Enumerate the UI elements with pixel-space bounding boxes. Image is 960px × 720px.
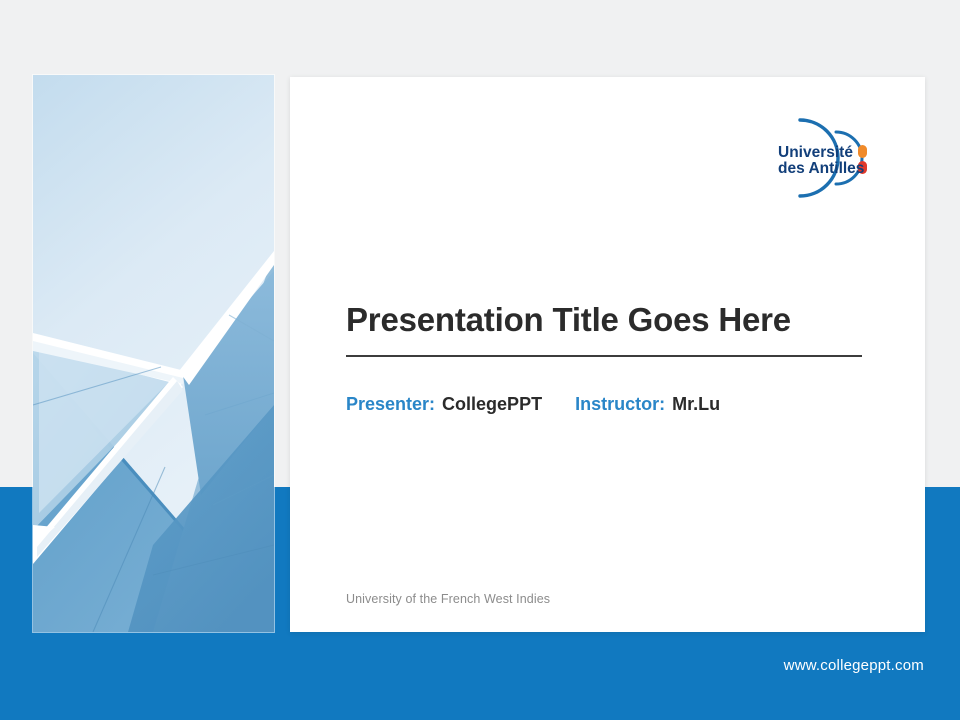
title-block: Presentation Title Goes Here [346,301,864,357]
instructor-group: Instructor: Mr.Lu [575,394,720,415]
site-url-watermark: www.collegeppt.com [784,657,924,674]
logo-line-2: des Antilles [778,160,864,177]
decorative-photo-panel [33,75,274,632]
slide-card: Université des Antilles Presentation Tit… [290,77,925,632]
architecture-photo-graphic [33,75,274,632]
presentation-meta-row: Presenter: CollegePPT Instructor: Mr.Lu [346,394,720,415]
university-logo: Université des Antilles [774,115,894,201]
instructor-label: Instructor: [575,394,665,415]
page-title: Presentation Title Goes Here [346,301,864,340]
university-logo-graphic: Université des Antilles [774,115,894,201]
presenter-value: CollegePPT [442,394,542,415]
title-divider [346,355,862,357]
logo-line-1: Université [778,144,853,161]
instructor-value: Mr.Lu [672,394,720,415]
presenter-label: Presenter: [346,394,435,415]
presenter-group: Presenter: CollegePPT [346,394,542,415]
slide-footer: University of the French West Indies [346,592,550,606]
